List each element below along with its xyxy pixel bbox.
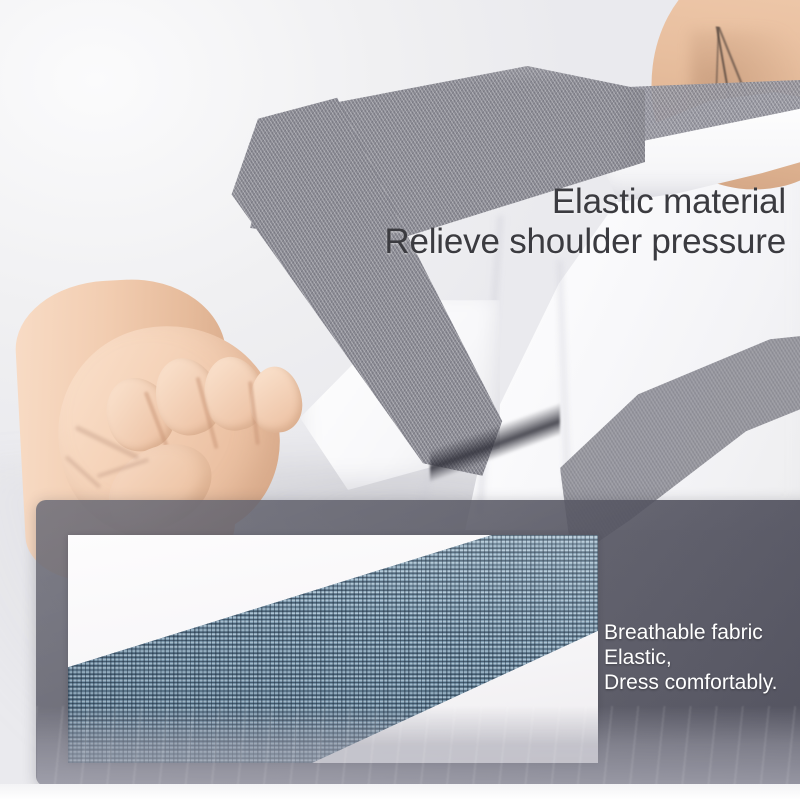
- caption-line-2: Elastic,: [604, 645, 794, 670]
- headline-line-1: Elastic material: [296, 182, 786, 222]
- caption-text: Breathable fabric Elastic, Dress comfort…: [604, 620, 794, 695]
- panel-bottom-fabric: [36, 706, 800, 786]
- caption-line-3: Dress comfortably.: [604, 670, 794, 695]
- screenshot-canvas: Elastic material Relieve shoulder pressu…: [0, 0, 800, 800]
- headline-line-2: Relieve shoulder pressure: [296, 222, 786, 262]
- headline-text: Elastic material Relieve shoulder pressu…: [296, 182, 786, 262]
- caption-line-1: Breathable fabric: [604, 620, 794, 645]
- bottom-strip: [0, 784, 800, 800]
